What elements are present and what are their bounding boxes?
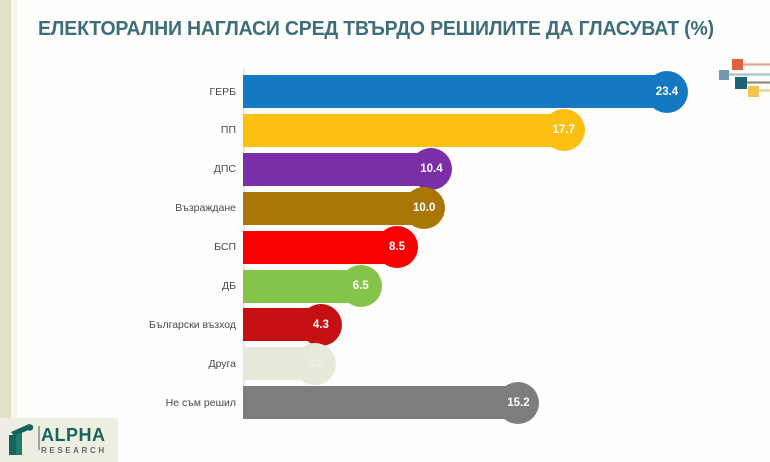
bar-value-bubble: 23.4 [646,71,688,113]
bar-category-label: ДПС [214,163,236,175]
bar-row: ДПС10.4 [0,150,770,189]
bar [243,231,397,264]
bar-value-bubble: 15.2 [497,382,539,424]
bar-category-label: Друга [208,358,236,370]
bar [243,114,564,147]
bar-category-label: Възраждане [175,202,236,214]
alpha-research-logo-icon [7,424,37,456]
bar-category-label: БСП [214,241,236,253]
bar-row: Възраждане10.0 [0,189,770,228]
bar [243,192,424,225]
logo-divider [38,426,40,450]
bar-category-label: ГЕРБ [209,86,236,98]
bar-value-bubble: 4.0 [294,343,336,385]
bar-category-label: Български възход [149,319,236,331]
brand-name: ALPHA [41,426,107,444]
slide-canvas: ЕЛЕКТОРАЛНИ НАГЛАСИ СРЕД ТВЪРДО РЕШИЛИТЕ… [0,0,770,462]
brand-subtitle: RESEARCH [41,447,107,455]
chart-plot-area: ГЕРБ23.4ПП17.7ДПС10.4Възраждане10.0БСП8.… [0,62,770,420]
bar-value-bubble: 6.5 [340,265,382,307]
bar-row: Български възход4.3 [0,305,770,344]
bar [243,75,667,108]
brand-logo: ALPHA RESEARCH [0,418,118,462]
bar-category-label: Не съм решил [166,397,236,409]
decorative-motif-icon [718,56,770,100]
bar-category-label: ПП [221,124,236,136]
bar-row: БСП8.5 [0,228,770,267]
bar-row: Не съм решил15.2 [0,383,770,422]
brand-text: ALPHA RESEARCH [41,426,107,455]
bar-row: Друга4.0 [0,344,770,383]
bar-value-bubble: 10.0 [403,187,445,229]
bar-category-label: ДБ [222,280,236,292]
bar [243,153,431,186]
bar-row: ГЕРБ23.4 [0,72,770,111]
bar-value-bubble: 10.4 [410,148,452,190]
bar [243,386,518,419]
bar-row: ПП17.7 [0,111,770,150]
bar-value-bubble: 4.3 [300,304,342,346]
page-title: ЕЛЕКТОРАЛНИ НАГЛАСИ СРЕД ТВЪРДО РЕШИЛИТЕ… [38,17,717,41]
bar-row: ДБ6.5 [0,267,770,306]
bar-value-bubble: 17.7 [543,109,585,151]
bar-value-bubble: 8.5 [376,226,418,268]
